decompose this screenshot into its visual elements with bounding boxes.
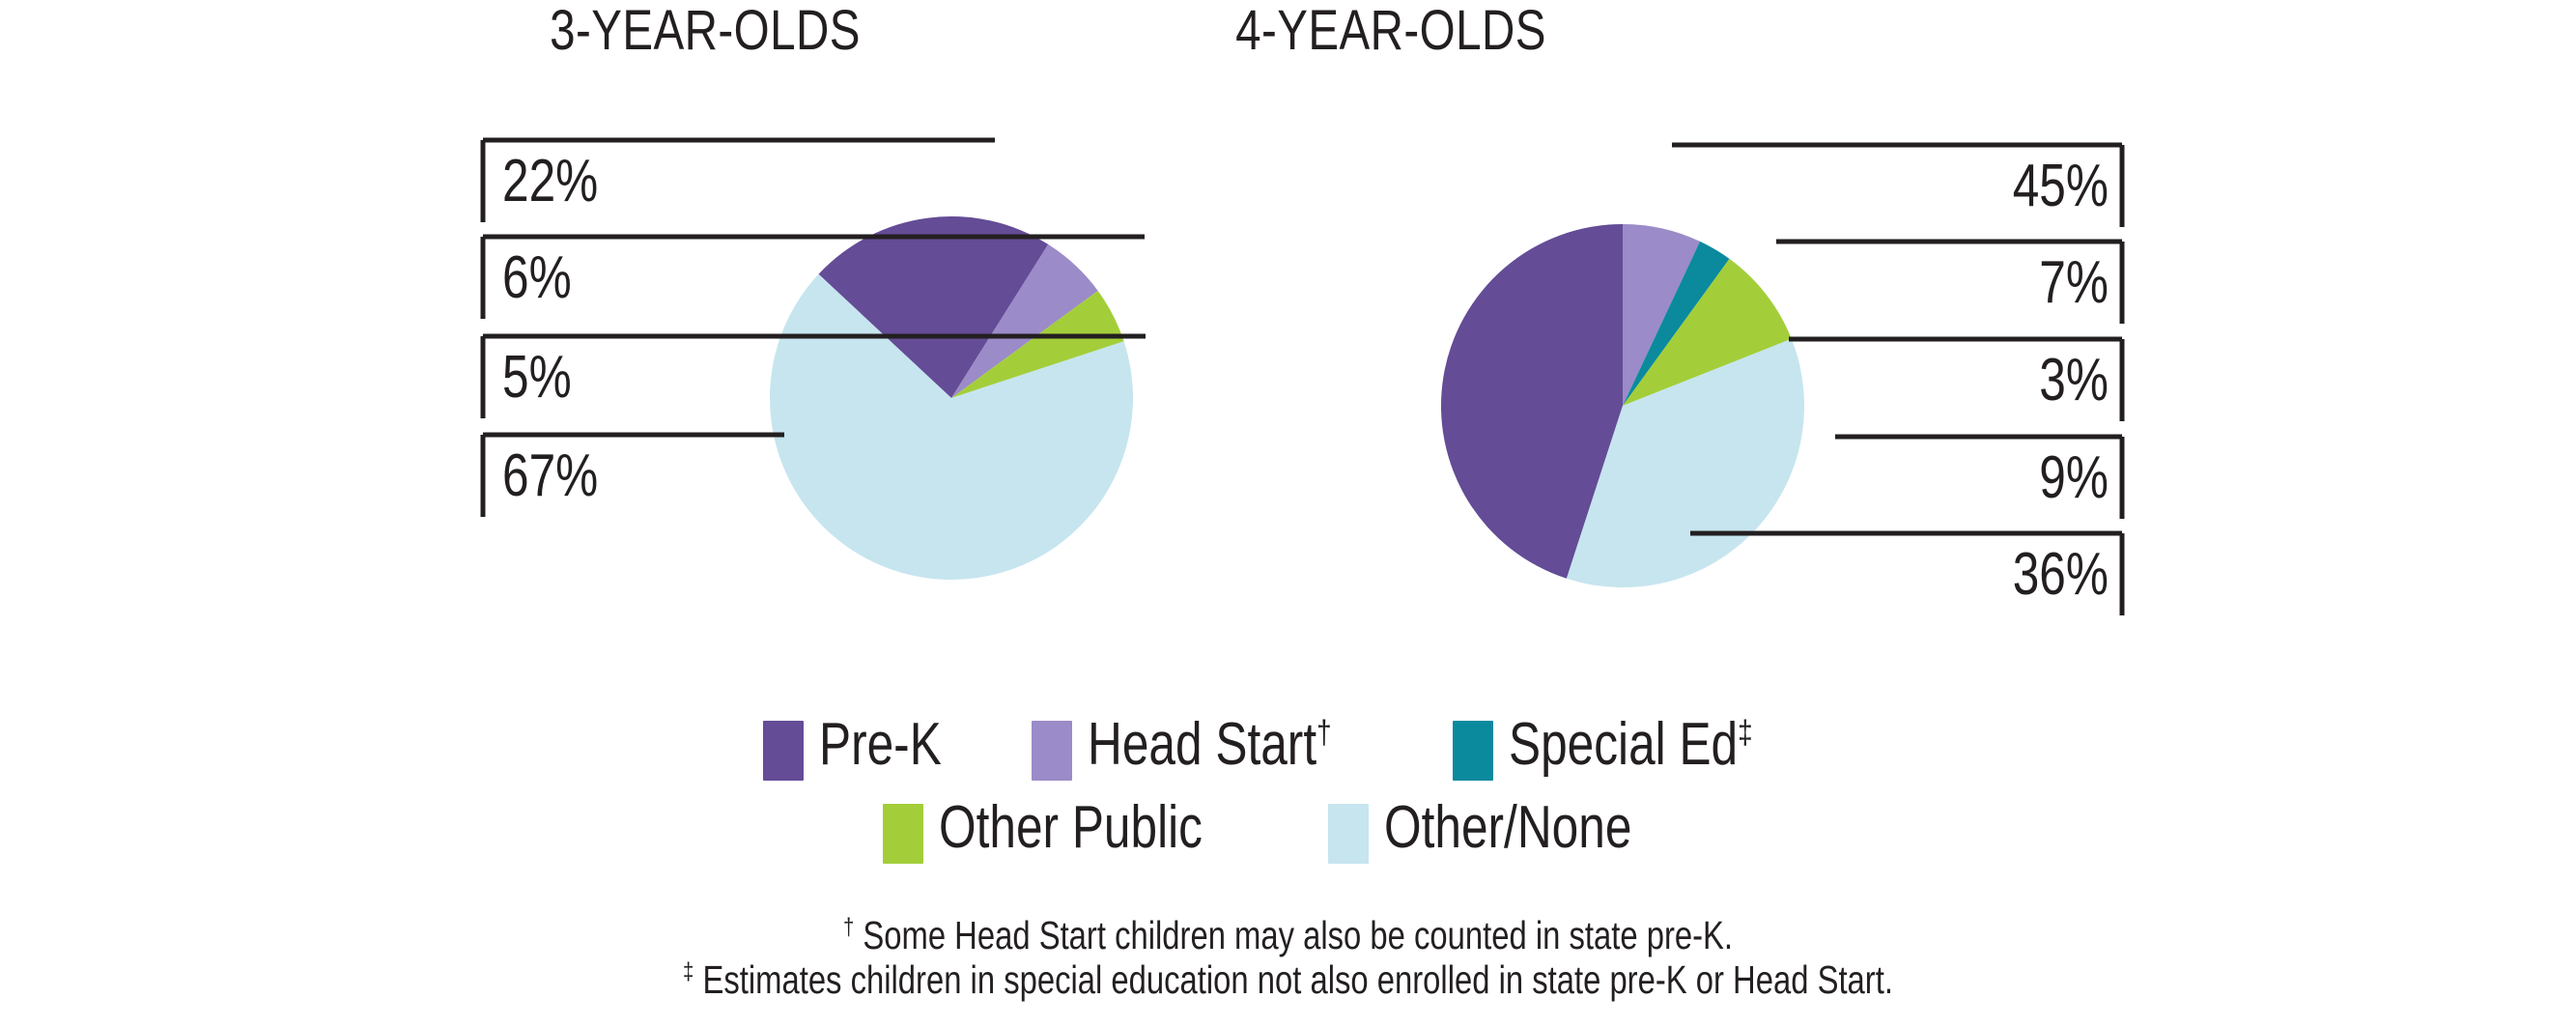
data-label-3yo-head-start: 6% (502, 243, 572, 312)
legend-label-head-start: Head Start† (1088, 715, 1332, 775)
footnote-dagger: † Some Head Start children may also be c… (258, 913, 2319, 957)
data-label-3yo-other-none: 67% (502, 442, 598, 510)
footnote-double-dagger: ‡ Estimates children in special educatio… (258, 957, 2319, 1002)
legend-row-2: Other Public Other/None (0, 798, 2576, 864)
legend-swatch-pre-k (763, 721, 804, 781)
data-label-3yo-prek: 22% (502, 147, 598, 215)
legend-label-other-none: Other/None (1384, 798, 1631, 858)
data-label-4yo-other-public: 9% (1890, 443, 2109, 512)
legend-item-other-none[interactable]: Other/None (1328, 798, 1694, 864)
data-label-3yo-other-public: 5% (502, 343, 572, 412)
leader-3yo-5 (483, 336, 1146, 418)
legend-item-pre-k[interactable]: Pre-K (763, 715, 972, 781)
leader-lines-layer (0, 0, 2576, 1027)
leader-3yo-6 (483, 237, 1145, 319)
legend-swatch-other-public (883, 804, 923, 864)
data-label-4yo-special-ed: 3% (1890, 346, 2109, 414)
data-label-4yo-prek: 45% (1890, 152, 2109, 220)
footnote-marker-dagger: † (843, 913, 854, 940)
legend-swatch-other-none (1328, 804, 1369, 864)
legend-label-pre-k: Pre-K (819, 715, 942, 775)
footnote-text-double-dagger: Estimates children in special education … (694, 957, 1893, 1002)
chart-canvas: 3-YEAR-OLDS 4-YEAR-OLDS (0, 0, 2576, 1027)
data-label-4yo-head-start: 7% (1890, 248, 2109, 317)
chart-footnotes: † Some Head Start children may also be c… (0, 913, 2576, 1002)
legend-label-other-public: Other Public (939, 798, 1203, 858)
legend-label-special-ed: Special Ed‡ (1509, 715, 1753, 775)
legend-item-special-ed[interactable]: Special Ed‡ (1453, 715, 1814, 781)
data-label-4yo-other-none: 36% (1890, 540, 2109, 609)
legend-item-other-public[interactable]: Other Public (883, 798, 1268, 864)
chart-legend: Pre-K Head Start† Special Ed‡ Other Publ… (0, 715, 2576, 864)
footnote-marker-double-dagger: ‡ (683, 957, 694, 984)
legend-marker-special-ed: ‡ (1738, 714, 1752, 751)
legend-swatch-head-start (1032, 721, 1072, 781)
legend-marker-head-start: † (1316, 714, 1331, 751)
footnote-text-dagger: Some Head Start children may also be cou… (854, 913, 1733, 957)
legend-item-head-start[interactable]: Head Start† (1032, 715, 1393, 781)
legend-swatch-special-ed (1453, 721, 1493, 781)
legend-row-1: Pre-K Head Start† Special Ed‡ (0, 715, 2576, 781)
